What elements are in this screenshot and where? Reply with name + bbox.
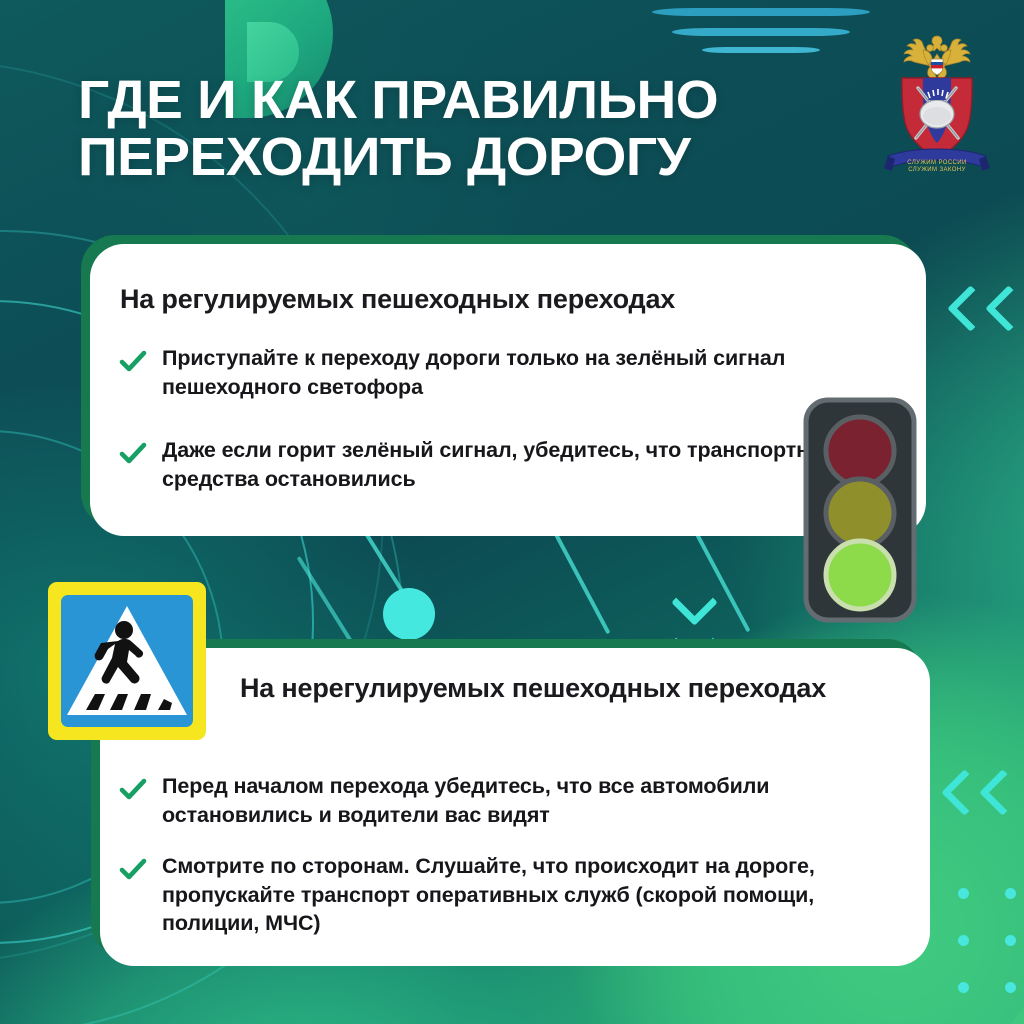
mvd-emblem: СЛУЖИМ РОССИИ СЛУЖИМ ЗАКОНУ	[878, 28, 996, 186]
check-icon	[118, 774, 148, 804]
card-regulated-heading: На регулируемых пешеходных переходах	[120, 283, 900, 316]
bullet-text: Приступайте к переходу дороги только на …	[162, 344, 908, 401]
check-icon	[118, 438, 148, 468]
decor-dot-grid	[958, 888, 1016, 993]
bullet-item: Даже если горит зелёный сигнал, убедитес…	[118, 436, 908, 493]
decor-stack-line-2	[672, 28, 850, 36]
pedestrian-crossing-sign-icon	[48, 582, 206, 740]
bullet-text: Даже если горит зелёный сигнал, убедитес…	[162, 436, 908, 493]
svg-text:СЛУЖИМ ЗАКОНУ: СЛУЖИМ ЗАКОНУ	[908, 167, 965, 173]
decor-stack-line-1	[652, 8, 870, 16]
bullet-item: Перед началом перехода убедитесь, что вс…	[118, 772, 908, 829]
bullet-item: Приступайте к переходу дороги только на …	[118, 344, 908, 401]
svg-text:СЛУЖИМ РОССИИ: СЛУЖИМ РОССИИ	[907, 160, 966, 166]
card-unregulated-heading: На нерегулируемых пешеходных переходах	[240, 672, 880, 705]
check-icon	[118, 854, 148, 884]
bullet-text: Смотрите по сторонам. Слушайте, что прои…	[162, 852, 908, 938]
page-title-line-1: ГДЕ И КАК ПРАВИЛЬНО	[78, 72, 853, 129]
bullet-item: Смотрите по сторонам. Слушайте, что прои…	[118, 852, 908, 938]
bullet-text: Перед началом перехода убедитесь, что вс…	[162, 772, 908, 829]
decor-stack-line-3	[702, 47, 820, 53]
check-icon	[118, 346, 148, 376]
page-title-line-2: ПЕРЕХОДИТЬ ДОРОГУ	[78, 129, 853, 186]
infographic-poster: ГДЕ И КАК ПРАВИЛЬНО ПЕРЕХОДИТЬ ДОРОГУ	[0, 0, 1024, 1024]
page-title: ГДЕ И КАК ПРАВИЛЬНО ПЕРЕХОДИТЬ ДОРОГУ	[78, 72, 853, 186]
decor-circle	[383, 588, 435, 640]
traffic-light-icon	[800, 396, 920, 624]
